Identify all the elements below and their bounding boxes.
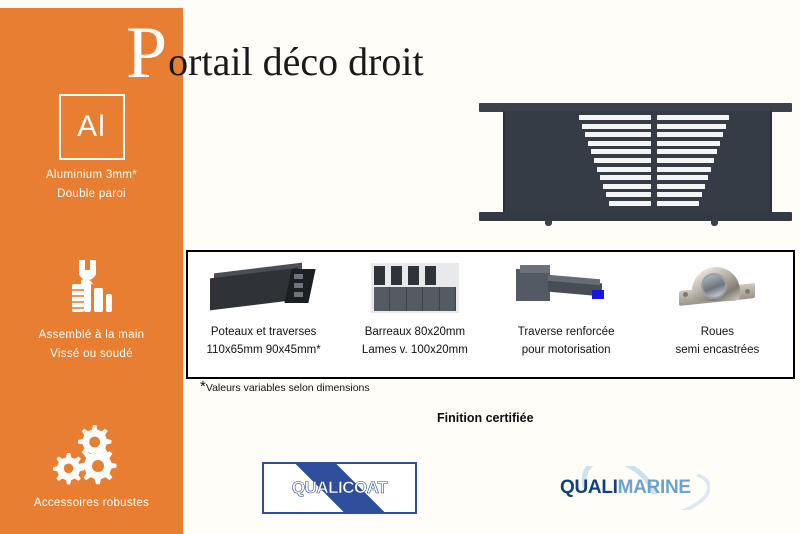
poteaux-profile-icon — [210, 262, 318, 314]
spec-card-traverse: Traverse renforcée pour motorisation — [491, 252, 642, 377]
qualimarine-logo: QUALIMARINE — [560, 466, 710, 510]
qualimarine-text-b: MARINE — [618, 477, 691, 498]
spec-card-roues-line2: semi encastrées — [676, 341, 760, 359]
sidebar-item-assemblage: Assemblé à la main Vissé ou soudé — [0, 256, 183, 364]
spec-card-barreaux: Barreaux 80x20mm Lames v. 100x20mm — [339, 252, 490, 377]
traverse-motorisation-icon — [516, 262, 616, 314]
aluminium-symbol-label: Al — [59, 94, 125, 160]
gate-slot-column-right — [657, 115, 731, 210]
gate-foot-right — [711, 220, 718, 226]
spec-card-poteaux: Poteaux et traverses 110x65mm 90x45mm* — [188, 252, 339, 377]
page-title-rest: ortail déco droit — [168, 40, 423, 84]
sidebar-item-accessoires-line1: Accessoires robustes — [0, 494, 183, 513]
roue-icon — [679, 262, 755, 314]
sidebar-item-assemblage-line1: Assemblé à la main — [0, 326, 183, 345]
brochure-page: Al Aluminium 3mm* Double paroi — [0, 0, 800, 534]
spec-card-barreaux-line1: Barreaux 80x20mm — [365, 323, 465, 341]
gate-slot-column-left — [577, 115, 651, 210]
specifications-box: Poteaux et traverses 110x65mm 90x45mm* B… — [186, 250, 795, 379]
sidebar-item-aluminium-line2: Double paroi — [0, 185, 183, 204]
barreaux-icon — [371, 262, 459, 314]
aluminium-square-icon: Al — [0, 96, 183, 158]
spec-card-roues: Roues semi encastrées — [642, 252, 793, 377]
qualicoat-logo-text: QUALICOAT — [292, 478, 387, 498]
page-title-cap: P — [126, 22, 167, 84]
sidebar-item-assemblage-line2: Vissé ou soudé — [0, 345, 183, 364]
footnote: *Valeurs variables selon dimensions — [200, 382, 370, 394]
spec-card-traverse-line1: Traverse renforcée — [518, 323, 615, 341]
portail-deco-droit-photo — [479, 103, 792, 221]
footnote-text: Valeurs variables selon dimensions — [206, 382, 370, 394]
spec-card-roues-line1: Roues — [701, 323, 734, 341]
page-title: P ortail déco droit — [126, 22, 424, 86]
wrench-hand-icon — [0, 256, 183, 318]
qualimarine-logo-text: QUALIMARINE — [560, 477, 691, 499]
qualicoat-logo: QUALICOAT — [262, 462, 417, 514]
gears-icon — [0, 424, 183, 486]
finition-heading: Finition certifiée — [437, 411, 534, 425]
sidebar-item-aluminium-line1: Aluminium 3mm* — [0, 166, 183, 185]
spec-card-poteaux-line1: Poteaux et traverses — [211, 323, 316, 341]
spec-card-poteaux-line2: 110x65mm 90x45mm* — [207, 341, 321, 359]
qualicoat-diamond: QUALICOAT — [270, 470, 409, 506]
spec-card-traverse-line2: pour motorisation — [522, 341, 611, 359]
gate-body — [503, 111, 772, 213]
qualimarine-text-a: QUALI — [560, 477, 618, 498]
sidebar-item-aluminium: Al Aluminium 3mm* Double paroi — [0, 96, 183, 204]
spec-card-barreaux-line2: Lames v. 100x20mm — [362, 341, 468, 359]
gate-bottom-rail — [479, 212, 792, 221]
sidebar-item-accessoires: Accessoires robustes — [0, 424, 183, 513]
gate-foot-left — [545, 220, 552, 226]
